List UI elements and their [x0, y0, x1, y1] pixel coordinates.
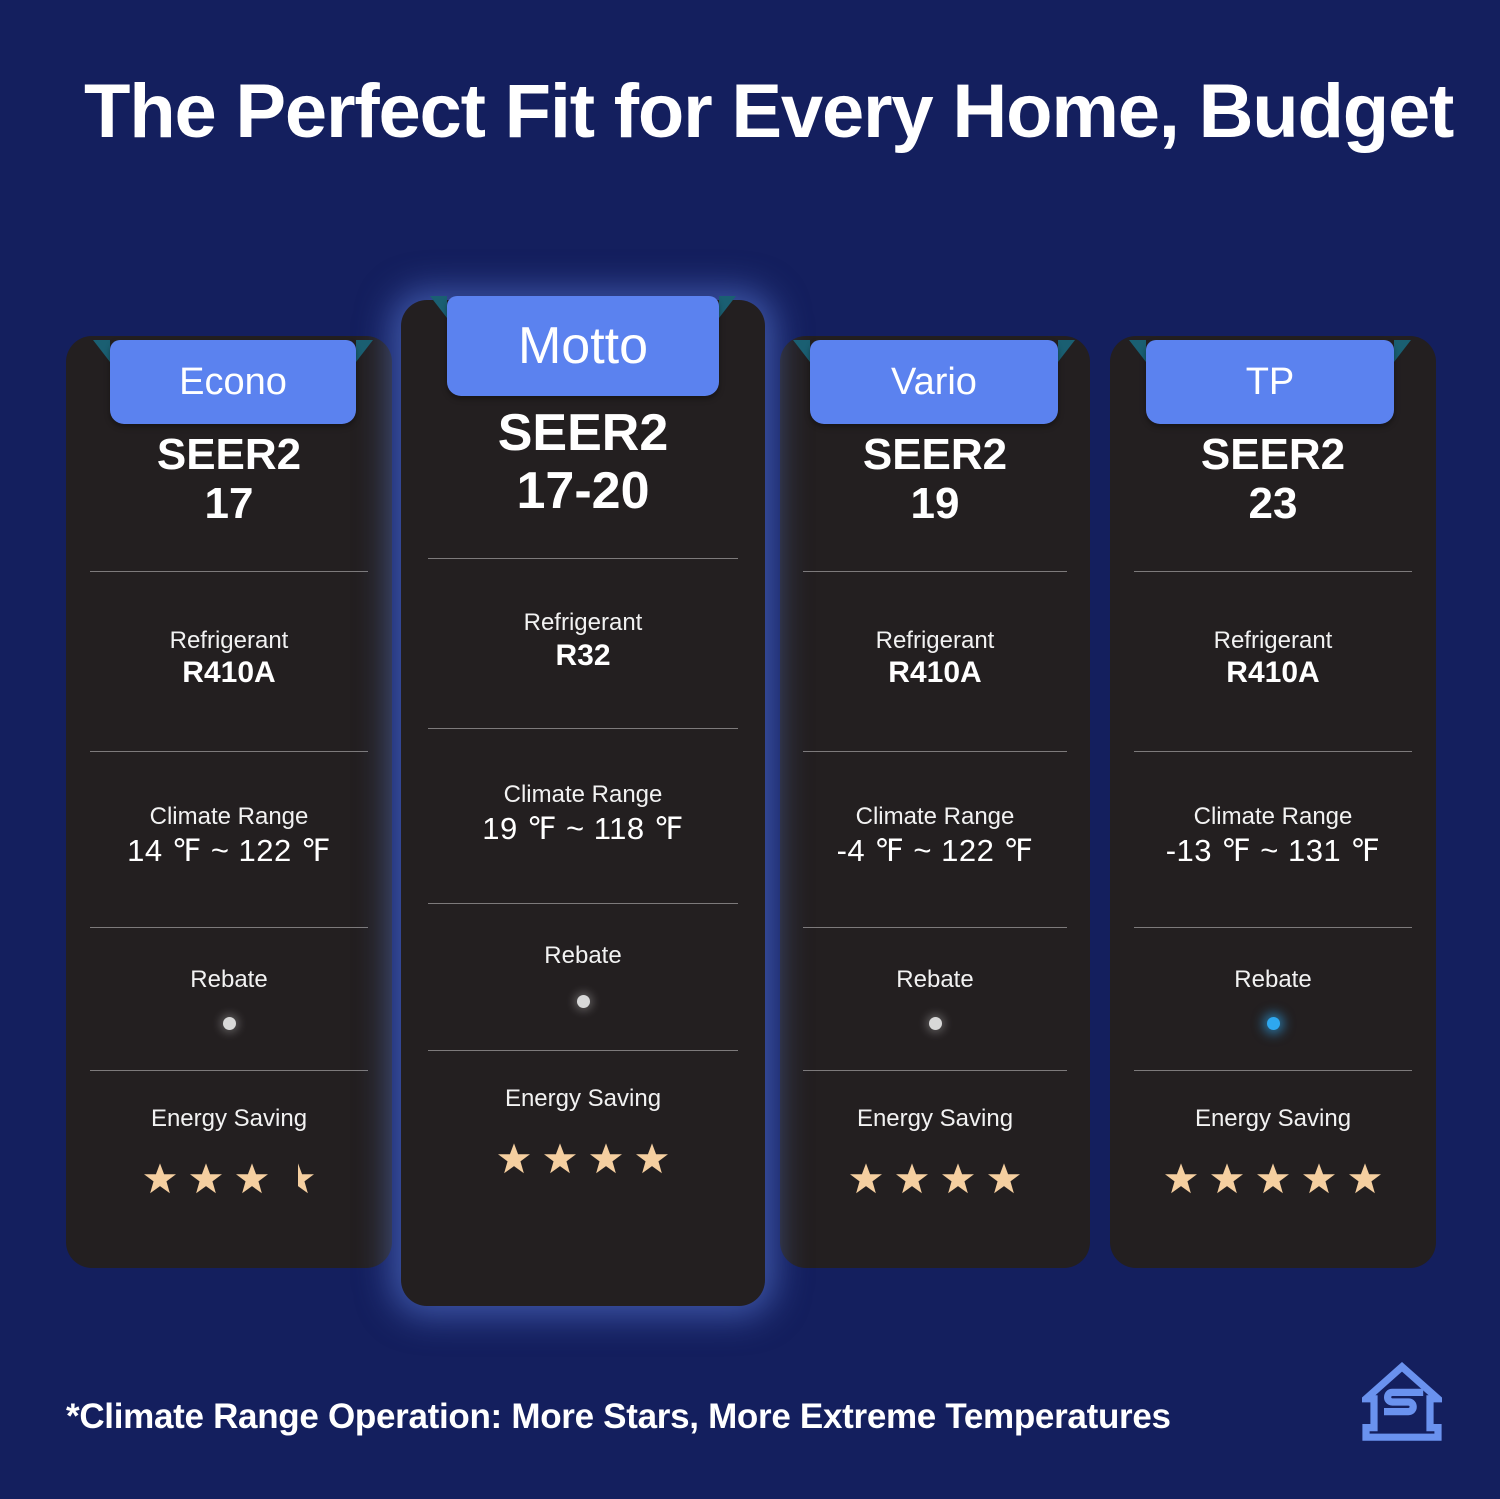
rebate-indicator-dot	[1267, 1017, 1280, 1030]
energy-saving-stars	[143, 1162, 315, 1196]
section-divider	[803, 751, 1067, 752]
card-title-motto: Motto	[518, 320, 648, 372]
refrigerant-label: Refrigerant	[524, 609, 643, 638]
star-icon-full	[189, 1162, 223, 1196]
star-icon-full	[1256, 1162, 1290, 1196]
star-icon-full	[143, 1162, 177, 1196]
refrigerant-row: Refrigerant R410A	[1110, 627, 1436, 692]
rebate-row: Rebate	[1110, 966, 1436, 1030]
section-divider	[428, 1050, 737, 1051]
climate-range-row: Climate Range 14 ℉ ~ 122 ℉	[66, 803, 392, 869]
card-content-motto: SEER2 17-20 Refrigerant R32 Climate Rang…	[401, 404, 765, 1176]
seer-block: SEER2 17-20	[498, 404, 669, 520]
card-ribbon-econo: Econo	[110, 340, 356, 424]
plan-comparison-deck: Econo Motto Vario TP SEER2 17 Refrigeran…	[0, 0, 1500, 1499]
climate-range-row: Climate Range 19 ℉ ~ 118 ℉	[401, 781, 765, 847]
section-divider	[90, 1070, 367, 1071]
section-divider	[1134, 927, 1411, 928]
climate-range-value: 19 ℉ ~ 118 ℉	[482, 810, 683, 847]
climate-range-value: -4 ℉ ~ 122 ℉	[837, 832, 1034, 869]
ribbon-shape: Motto	[447, 296, 719, 396]
energy-saving-label: Energy Saving	[1195, 1105, 1351, 1134]
rebate-indicator-dot	[929, 1017, 942, 1030]
card-title-tp: TP	[1246, 363, 1295, 401]
energy-saving-label: Energy Saving	[857, 1105, 1013, 1134]
energy-saving-stars	[1164, 1162, 1382, 1196]
star-icon-full	[941, 1162, 975, 1196]
rebate-indicator-dot	[223, 1017, 236, 1030]
card-ribbon-motto: Motto	[447, 296, 719, 396]
refrigerant-row: Refrigerant R32	[401, 609, 765, 674]
star-icon-full	[235, 1162, 269, 1196]
section-divider	[803, 927, 1067, 928]
star-icon-full	[1164, 1162, 1198, 1196]
seer-label: SEER2	[863, 430, 1007, 479]
section-divider	[1134, 571, 1411, 572]
refrigerant-value: R410A	[888, 655, 981, 691]
rebate-label: Rebate	[544, 942, 621, 971]
refrigerant-label: Refrigerant	[1214, 627, 1333, 656]
card-content-econo: SEER2 17 Refrigerant R410A Climate Range…	[66, 430, 392, 1196]
house-spiral-logo	[1362, 1362, 1442, 1442]
star-icon-half	[281, 1162, 315, 1196]
seer-value: 17-20	[498, 462, 669, 520]
star-icon-full	[543, 1142, 577, 1176]
rebate-label: Rebate	[1234, 966, 1311, 995]
climate-range-value: -13 ℉ ~ 131 ℉	[1166, 832, 1381, 869]
refrigerant-label: Refrigerant	[170, 627, 289, 656]
rebate-indicator-dot	[577, 995, 590, 1008]
star-icon-full	[849, 1162, 883, 1196]
refrigerant-row: Refrigerant R410A	[66, 627, 392, 692]
section-divider	[428, 558, 737, 559]
climate-range-row: Climate Range -4 ℉ ~ 122 ℉	[780, 803, 1090, 869]
seer-value: 17	[157, 479, 301, 528]
energy-saving-row: Energy Saving	[401, 1085, 765, 1176]
rebate-row: Rebate	[401, 942, 765, 1008]
card-ribbon-tp: TP	[1146, 340, 1394, 424]
rebate-label: Rebate	[896, 966, 973, 995]
star-icon-full	[635, 1142, 669, 1176]
energy-saving-row: Energy Saving	[66, 1105, 392, 1196]
star-icon-full	[1210, 1162, 1244, 1196]
card-content-tp: SEER2 23 Refrigerant R410A Climate Range…	[1110, 430, 1436, 1196]
climate-range-label: Climate Range	[856, 803, 1015, 832]
energy-saving-label: Energy Saving	[151, 1105, 307, 1134]
refrigerant-label: Refrigerant	[876, 627, 995, 656]
section-divider	[1134, 751, 1411, 752]
rebate-label: Rebate	[190, 966, 267, 995]
rebate-row: Rebate	[780, 966, 1090, 1030]
star-icon-full	[1348, 1162, 1382, 1196]
refrigerant-row: Refrigerant R410A	[780, 627, 1090, 692]
star-icon-full	[1302, 1162, 1336, 1196]
card-content-vario: SEER2 19 Refrigerant R410A Climate Range…	[780, 430, 1090, 1196]
ribbon-shape: TP	[1146, 340, 1394, 424]
card-title-vario: Vario	[891, 363, 977, 401]
energy-saving-label: Energy Saving	[505, 1085, 661, 1114]
climate-range-value: 14 ℉ ~ 122 ℉	[127, 832, 331, 869]
section-divider	[90, 927, 367, 928]
seer-value: 19	[863, 479, 1007, 528]
energy-saving-row: Energy Saving	[780, 1105, 1090, 1196]
seer-label: SEER2	[498, 404, 669, 462]
section-divider	[90, 751, 367, 752]
section-divider	[803, 571, 1067, 572]
climate-range-label: Climate Range	[150, 803, 309, 832]
section-divider	[90, 571, 367, 572]
ribbon-shape: Vario	[810, 340, 1058, 424]
star-icon-full	[987, 1162, 1021, 1196]
section-divider	[428, 728, 737, 729]
star-icon-full	[589, 1142, 623, 1176]
seer-block: SEER2 19	[863, 430, 1007, 529]
section-divider	[803, 1070, 1067, 1071]
seer-label: SEER2	[1201, 430, 1345, 479]
energy-saving-stars	[497, 1142, 669, 1176]
climate-range-label: Climate Range	[504, 781, 663, 810]
climate-range-label: Climate Range	[1194, 803, 1353, 832]
climate-range-row: Climate Range -13 ℉ ~ 131 ℉	[1110, 803, 1436, 869]
section-divider	[1134, 1070, 1411, 1071]
seer-label: SEER2	[157, 430, 301, 479]
climate-range-footnote: *Climate Range Operation: More Stars, Mo…	[66, 1397, 1171, 1437]
ribbon-shape: Econo	[110, 340, 356, 424]
refrigerant-value: R410A	[1226, 655, 1319, 691]
star-icon-full	[895, 1162, 929, 1196]
energy-saving-row: Energy Saving	[1110, 1105, 1436, 1196]
seer-value: 23	[1201, 479, 1345, 528]
refrigerant-value: R410A	[182, 655, 275, 691]
seer-block: SEER2 23	[1201, 430, 1345, 529]
star-icon-full	[497, 1142, 531, 1176]
refrigerant-value: R32	[555, 638, 610, 674]
card-ribbon-vario: Vario	[810, 340, 1058, 424]
card-title-econo: Econo	[179, 363, 287, 401]
energy-saving-stars	[849, 1162, 1021, 1196]
rebate-row: Rebate	[66, 966, 392, 1030]
section-divider	[428, 903, 737, 904]
seer-block: SEER2 17	[157, 430, 301, 529]
